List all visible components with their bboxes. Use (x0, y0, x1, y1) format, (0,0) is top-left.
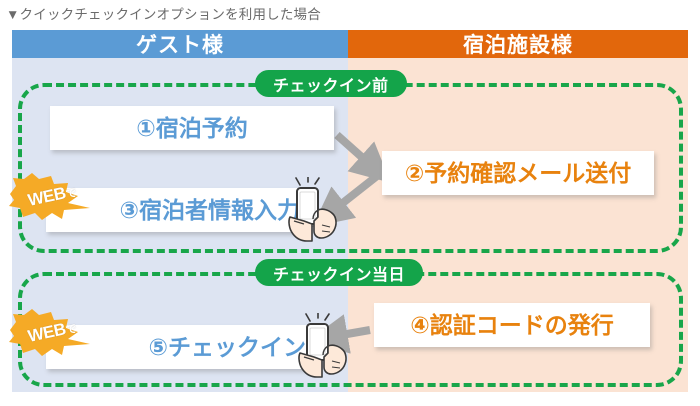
step-box-4[interactable]: ④認証コードの発行 (374, 303, 650, 347)
guest-column-label: ゲスト様 (136, 29, 224, 59)
section-pill-label-2: チェックイン当日 (273, 261, 405, 285)
step-label-2: ②予約確認メール送付 (405, 162, 631, 185)
step-label-1: ①宿泊予約 (136, 117, 247, 140)
hotel-column-header: 宿泊施設様 (348, 30, 688, 58)
starburst-callout-icon (6, 308, 98, 364)
phone-hand-tap-icon (282, 177, 344, 243)
diagram-canvas: ▼クイックチェックインオプションを利用した場合 ゲスト様 宿泊施設様 チェックイ… (0, 0, 700, 406)
web-badge-2: WEBで (6, 308, 98, 364)
hotel-column-label: 宿泊施設様 (463, 29, 573, 59)
step-box-2[interactable]: ②予約確認メール送付 (382, 151, 654, 195)
starburst-callout-icon (6, 172, 98, 228)
section-pill-label-1: チェックイン前 (273, 72, 389, 96)
web-badge-1: WEBで (6, 172, 98, 228)
diagram-caption: ▼クイックチェックインオプションを利用した場合 (6, 3, 321, 23)
section-pill-checkin-day: チェックイン当日 (255, 259, 423, 286)
step-label-3: ③宿泊者情報入力 (120, 199, 300, 222)
section-pill-before-checkin: チェックイン前 (255, 70, 407, 97)
step-label-5: ⑤チェックイン (149, 336, 306, 359)
step-box-1[interactable]: ①宿泊予約 (50, 106, 334, 150)
guest-column-header: ゲスト様 (12, 30, 348, 58)
phone-hand-tap-icon (292, 313, 354, 379)
step-label-4: ④認証コードの発行 (410, 314, 613, 337)
